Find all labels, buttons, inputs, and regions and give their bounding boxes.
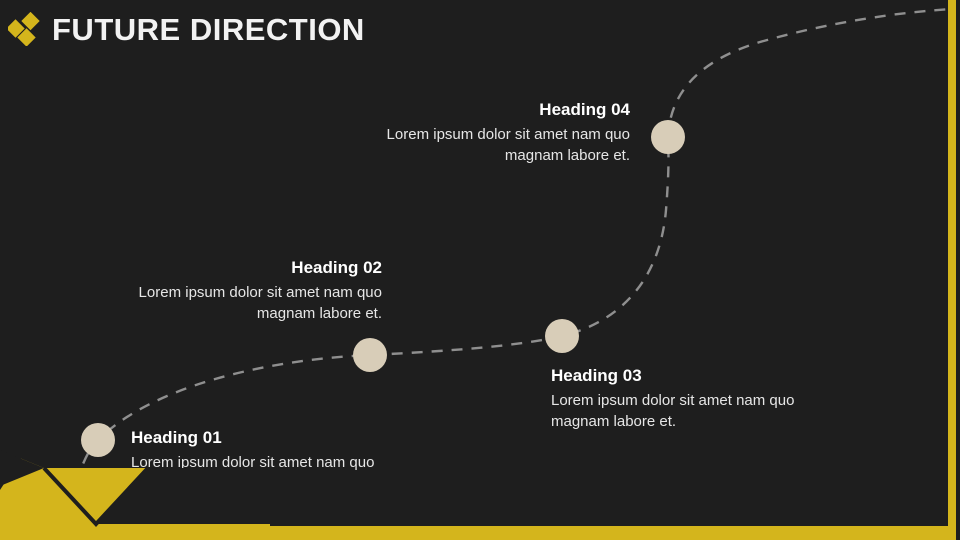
title-row: FUTURE DIRECTION	[8, 12, 365, 46]
step-block-03: Heading 03 Lorem ipsum dolor sit amet na…	[551, 366, 851, 433]
page-title: FUTURE DIRECTION	[52, 14, 365, 45]
milestone-dot-03[interactable]	[545, 319, 579, 353]
step-heading-01: Heading 01	[131, 428, 431, 448]
step-body-04: Lorem ipsum dolor sit amet nam quo magna…	[330, 125, 630, 166]
step-block-04: Heading 04 Lorem ipsum dolor sit amet na…	[330, 100, 630, 167]
right-accent-stripe	[948, 0, 956, 540]
diamond-cluster-icon	[8, 12, 42, 46]
step-heading-02: Heading 02	[82, 258, 382, 278]
step-heading-03: Heading 03	[551, 366, 851, 386]
corner-chevron-decoration	[0, 450, 270, 540]
step-block-02: Heading 02 Lorem ipsum dolor sit amet na…	[82, 258, 382, 325]
step-heading-04: Heading 04	[330, 100, 630, 120]
milestone-dot-04[interactable]	[651, 120, 685, 154]
milestone-dot-02[interactable]	[353, 338, 387, 372]
step-body-03: Lorem ipsum dolor sit amet nam quo magna…	[551, 391, 851, 432]
right-edge-margin	[956, 0, 960, 540]
slide-canvas: FUTURE DIRECTION Heading 04 Lorem ipsum …	[0, 0, 960, 540]
step-body-02: Lorem ipsum dolor sit amet nam quo magna…	[82, 283, 382, 324]
